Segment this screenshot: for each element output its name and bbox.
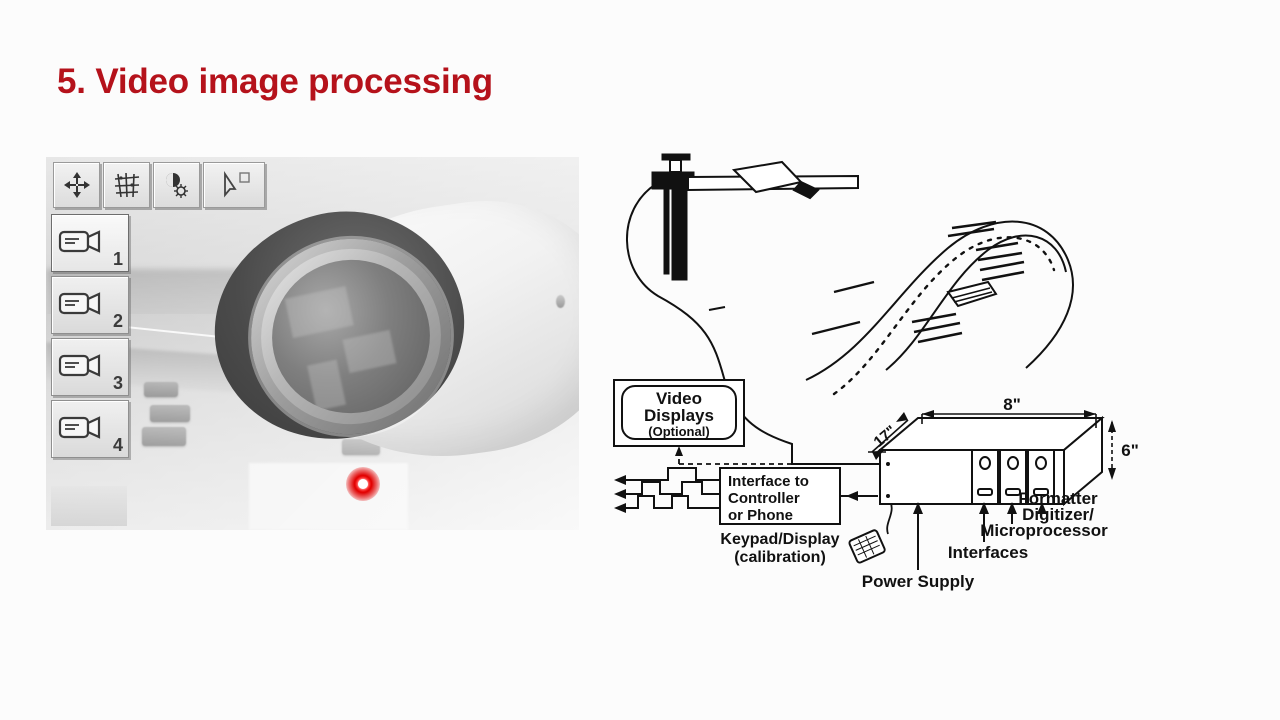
- dimension-width-label: 8": [1003, 395, 1021, 414]
- keypad-label-line2: (calibration): [734, 549, 826, 566]
- video-displays-label-line3: (Optional): [648, 424, 709, 439]
- signal-waveforms: [624, 468, 720, 508]
- vehicle: [142, 427, 186, 446]
- pan-tool-button[interactable]: [53, 162, 100, 208]
- dimension-height-label: 6": [1121, 441, 1139, 460]
- grid-icon: [112, 170, 142, 200]
- interface-label-line2: Controller: [728, 490, 800, 507]
- software-toolbar: [53, 162, 265, 208]
- video-camera-icon: [57, 410, 107, 449]
- select-tool-button[interactable]: [203, 162, 265, 208]
- interface-label-line1: Interface to: [728, 473, 809, 490]
- camera-button-3[interactable]: 3: [51, 338, 129, 396]
- video-displays-feed: [679, 454, 880, 464]
- camera-button-4[interactable]: 4: [51, 400, 129, 458]
- slide-canvas: 5. Video image processing: [0, 0, 1280, 720]
- software-panel-footer: [51, 486, 127, 526]
- vehicle-icon: [948, 282, 996, 306]
- brightness-contrast-icon: [162, 170, 192, 200]
- vehicle: [144, 382, 178, 397]
- power-supply-label: Power Supply: [862, 572, 975, 591]
- detection-zone-upper: [948, 222, 996, 236]
- camera-button-1[interactable]: 1: [51, 214, 129, 272]
- interface-arrowhead: [846, 491, 858, 501]
- overpass-structure: [249, 463, 409, 530]
- laser-target-dot: [346, 467, 380, 501]
- video-camera-icon: [57, 224, 107, 263]
- brightness-contrast-tool-button[interactable]: [153, 162, 200, 208]
- video-image-processing-system-diagram: Video Displays (Optional): [596, 132, 1156, 592]
- lane-markings: [812, 282, 874, 334]
- digitizer-label-line2: Formatter: [1018, 489, 1098, 508]
- camera-button-2[interactable]: 2: [51, 276, 129, 334]
- camera-number: 1: [113, 249, 123, 270]
- keypad-label-line1: Keypad/Display: [720, 531, 839, 548]
- interface-block: Interface to Controller or Phone: [720, 468, 840, 524]
- page-title: 5. Video image processing: [57, 62, 493, 102]
- detector-grid-tool-button[interactable]: [103, 162, 150, 208]
- video-detection-software-screenshot: 1 2: [46, 157, 579, 530]
- camera-number: 4: [113, 435, 123, 456]
- camera-mast-assembly: [652, 154, 694, 280]
- signal-arrowheads: [614, 475, 626, 513]
- interfaces-label: Interfaces: [948, 543, 1028, 562]
- cursor-arrow-icon: [218, 170, 250, 200]
- video-displays-label-line2: Displays: [644, 406, 714, 425]
- four-arrows-icon: [62, 170, 92, 200]
- video-camera-icon: [57, 348, 107, 387]
- feed-arrowhead: [675, 446, 683, 456]
- handheld-keypad-icon: [849, 500, 892, 563]
- detection-zone-lower: [912, 314, 962, 342]
- detection-zone-middle: [976, 243, 1024, 280]
- interface-label-line3: or Phone: [728, 507, 793, 524]
- camera-number: 3: [113, 373, 123, 394]
- camera-number: 2: [113, 311, 123, 332]
- video-displays-block: Video Displays (Optional): [614, 380, 744, 446]
- vehicle: [342, 439, 380, 455]
- vehicle: [150, 405, 190, 422]
- roadway: [806, 222, 1073, 380]
- video-camera-icon: [57, 286, 107, 325]
- camera-selector-list: 1 2: [51, 214, 131, 462]
